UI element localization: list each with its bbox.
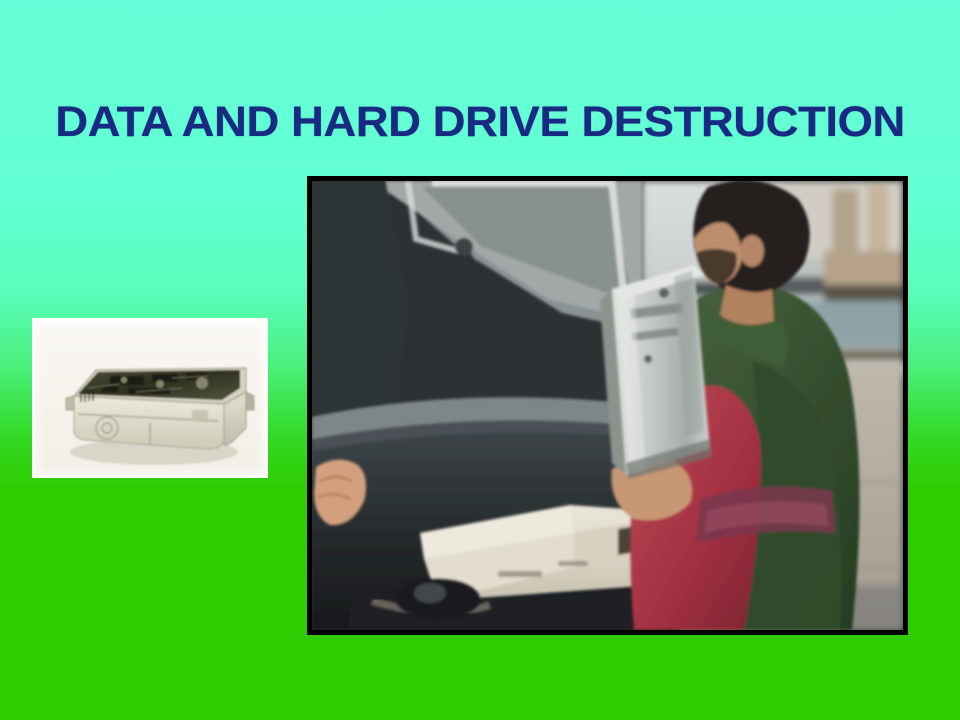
main-photo-frame — [307, 176, 908, 635]
slide-root: DATA AND HARD DRIVE DESTRUCTION — [0, 0, 960, 720]
hard-drive-thumbnail — [32, 318, 268, 478]
hard-drive-illustration — [32, 318, 268, 478]
page-title: DATA AND HARD DRIVE DESTRUCTION — [0, 100, 960, 145]
hard-drive-destruction-illustration — [312, 181, 903, 630]
